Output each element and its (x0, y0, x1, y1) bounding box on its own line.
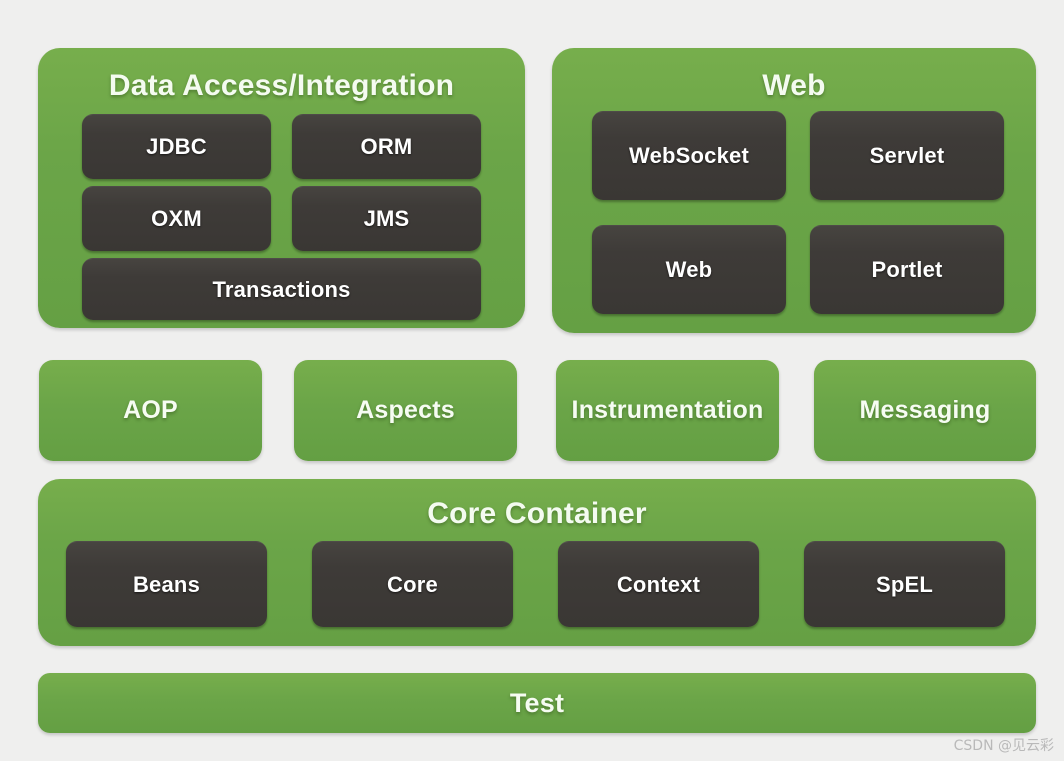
module-label-transactions: Transactions (212, 277, 350, 303)
module-aspects[interactable]: Aspects (294, 360, 517, 461)
module-portlet[interactable]: Portlet (810, 225, 1004, 314)
module-core[interactable]: Core (312, 541, 513, 627)
module-servlet[interactable]: Servlet (810, 111, 1004, 200)
module-web[interactable]: Web (592, 225, 786, 314)
module-context[interactable]: Context (558, 541, 759, 627)
module-test[interactable]: Test (38, 673, 1036, 733)
module-spel[interactable]: SpEL (804, 541, 1005, 627)
module-label-messaging: Messaging (860, 396, 991, 425)
module-jdbc[interactable]: JDBC (82, 114, 271, 179)
module-label-jms: JMS (364, 206, 410, 232)
module-label-aspects: Aspects (356, 396, 455, 425)
module-jms[interactable]: JMS (292, 186, 481, 251)
module-aop[interactable]: AOP (39, 360, 262, 461)
watermark-text: CSDN @见云彩 (954, 735, 1054, 755)
module-label-core: Core (387, 572, 438, 598)
module-label-orm: ORM (361, 134, 413, 160)
module-transactions[interactable]: Transactions (82, 258, 481, 320)
panel-title-data-access: Data Access/Integration (38, 69, 525, 103)
module-orm[interactable]: ORM (292, 114, 481, 179)
module-label-spel: SpEL (876, 572, 933, 598)
panel-title-core-container: Core Container (38, 497, 1036, 531)
module-beans[interactable]: Beans (66, 541, 267, 627)
module-label-servlet: Servlet (870, 143, 945, 169)
module-label-web: Web (666, 257, 713, 283)
module-label-test: Test (510, 688, 564, 719)
module-label-portlet: Portlet (871, 257, 942, 283)
module-label-websocket: WebSocket (629, 143, 749, 169)
module-label-instrumentation: Instrumentation (572, 396, 764, 425)
module-label-beans: Beans (133, 572, 200, 598)
module-label-oxm: OXM (151, 206, 202, 232)
module-label-jdbc: JDBC (146, 134, 207, 160)
module-instrumentation[interactable]: Instrumentation (556, 360, 779, 461)
module-label-aop: AOP (123, 396, 178, 425)
module-oxm[interactable]: OXM (82, 186, 271, 251)
diagram-canvas: Data Access/Integration JDBC ORM OXM JMS… (0, 0, 1064, 761)
module-label-context: Context (617, 572, 700, 598)
panel-title-web: Web (552, 69, 1036, 103)
module-websocket[interactable]: WebSocket (592, 111, 786, 200)
module-messaging[interactable]: Messaging (814, 360, 1036, 461)
